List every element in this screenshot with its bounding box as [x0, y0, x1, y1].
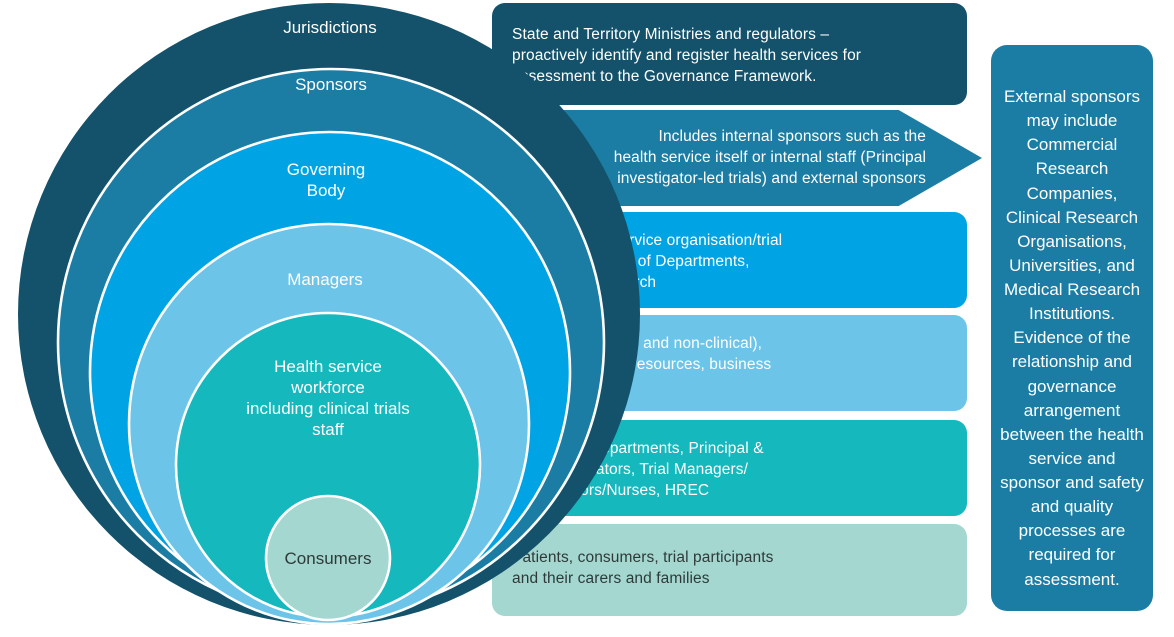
callout-consumers: Patients, consumers, trial participants … [492, 524, 967, 616]
callout-sponsors-arrow: Includes internal sponsors such as the h… [492, 110, 982, 206]
callout-jurisdictions-text: State and Territory Ministries and regul… [512, 25, 949, 87]
callout-governing-body-text: Board, Health service organisation/trial… [512, 231, 949, 293]
ring-label-workforce-line1: Health service [274, 357, 382, 376]
diagram-canvas: State and Territory Ministries and regul… [0, 0, 1174, 637]
callout-sponsors-text: Includes internal sponsors such as the h… [512, 127, 926, 189]
ring-managers [129, 224, 529, 624]
ring-label-governing-body-line1: Governing [287, 160, 365, 179]
callout-workforce: Supporting departments, Principal & sub-… [492, 420, 967, 516]
ring-label-workforce-line3: including clinical trials [246, 399, 409, 418]
ring-label-managers: Managers [287, 270, 363, 289]
callout-managers: Managers (clinical and non-clinical), Fi… [492, 315, 967, 411]
ring-label-workforce-line4: staff [312, 420, 344, 439]
ring-consumers [266, 496, 390, 620]
ring-workforce [176, 313, 480, 617]
ring-label-jurisdictions: Jurisdictions [283, 18, 377, 37]
callout-workforce-text: Supporting departments, Principal & sub-… [512, 439, 949, 501]
ring-label-governing-body-line2: Body [307, 181, 346, 200]
ring-label-workforce-line2: workforce [290, 378, 365, 397]
ring-label-consumers: Consumers [285, 549, 372, 568]
callout-governing-body: Board, Health service organisation/trial… [492, 212, 967, 308]
callout-jurisdictions: State and Territory Ministries and regul… [492, 3, 967, 105]
ring-label-sponsors: Sponsors [295, 75, 367, 94]
external-sponsors-panel: External sponsors may include Commercial… [991, 45, 1153, 611]
callout-managers-text: Managers (clinical and non-clinical), Fi… [512, 334, 949, 396]
external-sponsors-text: External sponsors may include Commercial… [1000, 87, 1144, 589]
callout-consumers-text: Patients, consumers, trial participants … [512, 548, 949, 590]
